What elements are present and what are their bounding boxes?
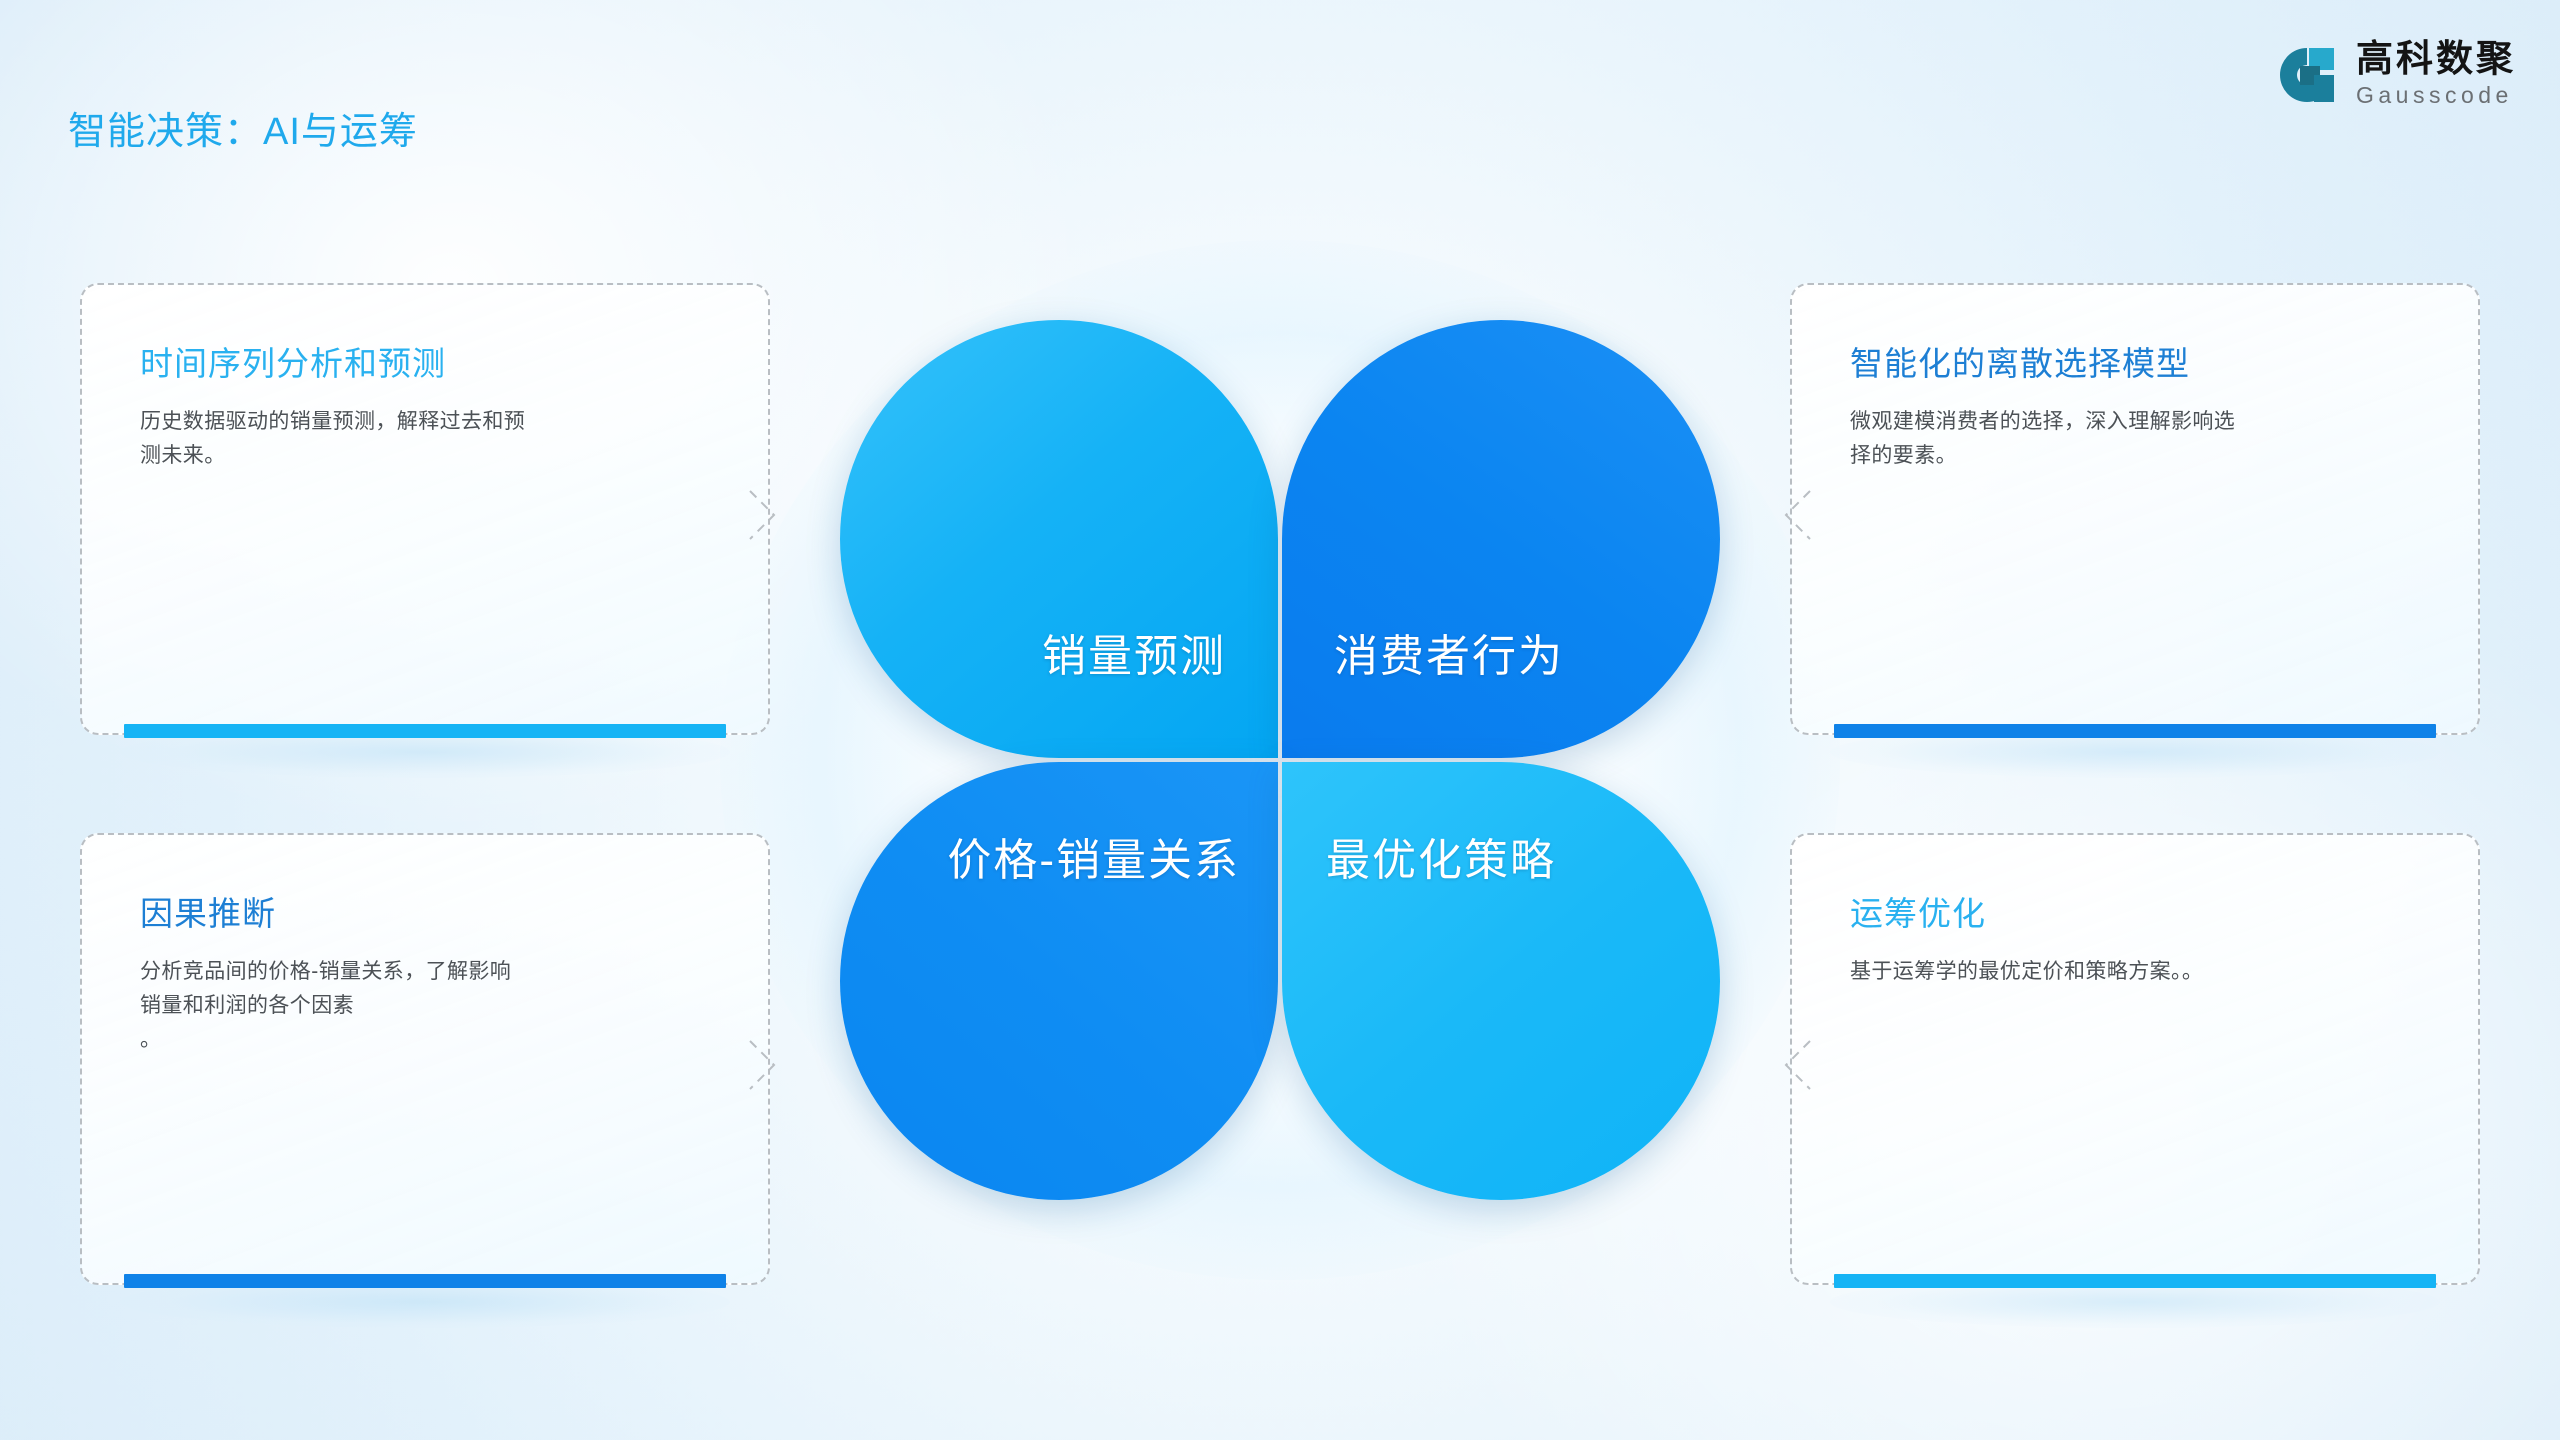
card-accent-bar (1834, 1274, 2436, 1288)
card-description: 分析竞品间的价格-销量关系，了解影响 销量和利润的各个因素 。 (140, 955, 710, 1057)
petal-label: 价格-销量关系 (947, 824, 1240, 888)
petal-consumer-behavior[interactable]: 消费者行为 (1282, 320, 1720, 758)
flower-diagram: 销量预测 消费者行为 价格-销量关系 最优化策略 (840, 320, 1720, 1200)
petal-optimization-strategy[interactable]: 最优化策略 (1282, 762, 1720, 1200)
chevron-right-icon (748, 1035, 792, 1095)
petal-label: 消费者行为 (1334, 620, 1564, 684)
card-title: 时间序列分析和预测 (140, 337, 710, 385)
petal-sales-forecast[interactable]: 销量预测 (840, 320, 1278, 758)
chevron-left-icon (1768, 485, 1812, 545)
chevron-left-icon (1768, 1035, 1812, 1095)
brand-name-en: Gausscode (2356, 81, 2516, 110)
card-operations-research[interactable]: 运筹优化 基于运筹学的最优定价和策略方案。。 (1790, 833, 2480, 1285)
card-accent-bar (124, 724, 726, 738)
brand-name-cn: 高科数聚 (2356, 40, 2516, 79)
petal-price-sales-relation[interactable]: 价格-销量关系 (840, 762, 1278, 1200)
card-discrete-choice[interactable]: 智能化的离散选择模型 微观建模消费者的选择，深入理解影响选 择的要素。 (1790, 283, 2480, 735)
petal-label: 最优化策略 (1326, 824, 1556, 888)
card-description: 历史数据驱动的销量预测，解释过去和预 测未来。 (140, 405, 710, 473)
card-accent-bar (1834, 724, 2436, 738)
gausscode-logo-icon (2276, 44, 2338, 106)
brand-text: 高科数聚 Gausscode (2356, 40, 2516, 110)
card-time-series[interactable]: 时间序列分析和预测 历史数据驱动的销量预测，解释过去和预 测未来。 (80, 283, 770, 735)
card-title: 智能化的离散选择模型 (1850, 337, 2420, 385)
card-title: 因果推断 (140, 887, 710, 935)
card-title: 运筹优化 (1850, 887, 2420, 935)
card-causal-inference[interactable]: 因果推断 分析竞品间的价格-销量关系，了解影响 销量和利润的各个因素 。 (80, 833, 770, 1285)
card-accent-bar (124, 1274, 726, 1288)
card-description: 微观建模消费者的选择，深入理解影响选 择的要素。 (1850, 405, 2420, 473)
chevron-right-icon (748, 485, 792, 545)
card-description: 基于运筹学的最优定价和策略方案。。 (1850, 955, 2420, 989)
petal-label: 销量预测 (1042, 620, 1226, 684)
brand-logo: 高科数聚 Gausscode (2276, 40, 2516, 110)
page-title: 智能决策：AI与运筹 (68, 100, 418, 155)
